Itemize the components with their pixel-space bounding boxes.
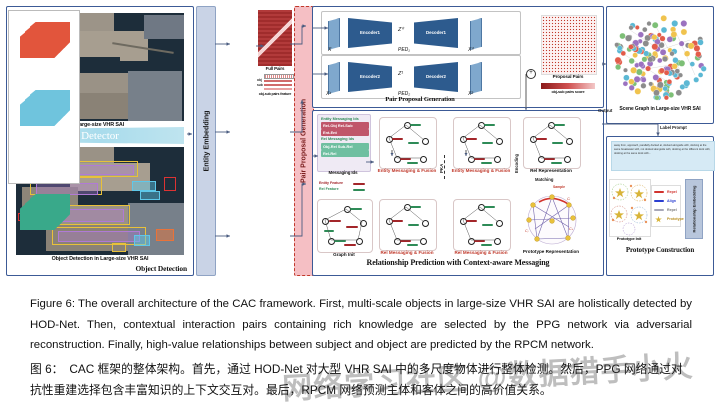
obj-sub-pairs-score-label: obj-sub pairs score xyxy=(537,91,599,95)
ped1-latent-label: Z⁰ xyxy=(398,27,404,33)
full-pairs-matrix xyxy=(258,10,292,66)
prototype-star-icon xyxy=(655,216,662,223)
entity-messaging-ids-title: Entity Messaging Ids xyxy=(321,117,359,121)
label-prompt-text: away from, approach, parallelly docked a… xyxy=(611,141,715,171)
decoder2-block: Decoder2 xyxy=(414,62,458,92)
graph-init-label: Graph Init xyxy=(313,252,375,257)
caption-chinese: 图 6： CAC 框架的整体架构。首先，通过 HOD-Net 对大型 VHR S… xyxy=(30,359,692,401)
decoder1-block: Decoder1 xyxy=(414,18,458,48)
pair-proposal-generation-panel: Encoder1 Z⁰ Decoder1 X X⁰ PED₁ Encoder2 … xyxy=(312,6,604,108)
prototype-mark-cj: Cⱼ xyxy=(525,229,528,233)
rel-representation-label: Rel Representation xyxy=(519,168,583,173)
output-label: Output xyxy=(598,108,612,113)
rpcm-panel: Entity Messaging Ids Rel-Obj Rel-Sub Ent… xyxy=(312,110,604,276)
ped1-output-label: X⁰ xyxy=(468,47,473,53)
figure-caption: Figure 6: The overall architecture of th… xyxy=(30,294,692,401)
prototype-mark-ck: Cₖ xyxy=(569,227,573,231)
scene-graph-panel: Scene Graph in Large-size VHR SAI xyxy=(606,6,714,124)
scene-graph-plot xyxy=(610,10,710,106)
ped2-latent-label: Z¹ xyxy=(398,71,403,77)
rel-fusion-card-1 xyxy=(379,199,437,251)
pairs-score-bar xyxy=(541,83,595,89)
prototype-representation-graph: Cᵢ Cⱼ Cₖ xyxy=(523,193,581,247)
encoder1-block: Encoder1 xyxy=(348,18,392,48)
ped1-box: Encoder1 Z⁰ Decoder1 X X⁰ PED₁ xyxy=(321,11,521,55)
feature-legend: Entity Feature Rel Feature xyxy=(319,181,367,193)
entity-fusion-card-2 xyxy=(453,117,511,169)
prototype-mark-ci: Cᵢ xyxy=(567,197,570,201)
rel-feature-legend-label: Rel Feature xyxy=(319,187,339,191)
sub-axis-label: sub xyxy=(257,83,263,87)
obj-axis-label: obj xyxy=(257,78,262,82)
sample-label: Sample xyxy=(553,185,565,189)
entity-messaging-id-2: Ent-Ent xyxy=(321,129,369,136)
rel-messaging-ids-title: Rel Messaging Ids xyxy=(321,137,354,141)
rel-fusion-card-2 xyxy=(453,199,511,251)
proposal-pairs-label: Proposal Pairs xyxy=(537,75,599,80)
encoder2-block: Encoder2 xyxy=(348,62,392,92)
messaging-ids-label: Messaging Ids xyxy=(313,171,373,175)
entity-fusion-label-2: Entity Messaging & Fusion xyxy=(449,168,513,173)
rel-representation-card xyxy=(523,117,581,169)
prototype-legend: Repel Align Repel Prototype xyxy=(651,185,681,227)
messaging-ids-legend: Entity Messaging Ids Rel-Obj Rel-Sub Ent… xyxy=(317,114,371,172)
full-pairs-label: Full Pairs xyxy=(256,67,294,71)
full-pairs-group: Full Pairs obj sub obj-sub pairs feature xyxy=(256,8,294,104)
entity-feature-legend-label: Entity Feature xyxy=(319,181,343,185)
rel-fusion-label-1: Rel Messaging & Fusion xyxy=(375,250,439,255)
relationship-embedding-block: Relationship Embedding xyxy=(685,179,703,239)
rel-feature-swatch xyxy=(353,189,365,191)
rel-messaging-id-2: Rel-Rel xyxy=(321,150,369,157)
entity-fusion-card-1 xyxy=(379,117,437,169)
cac-architecture-figure: Large-size VHR SAI Detector xyxy=(6,4,714,282)
prototype-representation-label: Prototype Representation xyxy=(519,249,583,254)
entity-fusion-label-1: Entity Messaging & Fusion xyxy=(375,168,439,173)
ped1-output-slab xyxy=(470,18,482,50)
prototype-init-plot xyxy=(609,179,651,237)
ped1-name-label: PED₁ xyxy=(398,47,410,53)
sum-operator-icon: + xyxy=(526,69,536,79)
prototype-construction-panel: away from, approach, parallelly docked a… xyxy=(606,136,714,276)
ppg-column-label: Pair Proposal Generation xyxy=(301,99,308,183)
ppg-column: Pair Proposal Generation xyxy=(294,6,314,276)
caption-english: Figure 6: The overall architecture of th… xyxy=(30,294,692,356)
ped2-input-slab xyxy=(328,62,340,94)
scene-graph-caption: Scene Graph in Large-size VHR SAI xyxy=(607,107,713,112)
prototype-init-label: Prototype Init xyxy=(607,237,651,241)
rpcm-title: Relationship Prediction with Context-awa… xyxy=(313,259,603,267)
ped1-input-label: X xyxy=(328,47,331,53)
figure-page: Large-size VHR SAI Detector xyxy=(0,0,720,405)
matching-label: Matching xyxy=(535,177,553,182)
proposal-pairs-matrix xyxy=(541,15,597,75)
rel-fusion-label-2: Rel Messaging & Fusion xyxy=(449,250,513,255)
pair-proposal-generation-title: Pair Proposal Generation xyxy=(321,97,519,104)
ped1-input-slab xyxy=(328,18,340,50)
object-detection-title: Object Detection xyxy=(7,265,187,272)
detection-result-caption: Object Detection in Large-size VHR SAI xyxy=(7,257,193,262)
ped2-box: Encoder2 Z¹ Decoder2 X¹ X² PED₂ xyxy=(321,55,521,99)
graph-init-card xyxy=(317,199,373,253)
entity-feature-swatch xyxy=(353,183,365,185)
pka-label: PKA xyxy=(439,164,444,173)
ped2-output-slab xyxy=(470,62,482,94)
prototype-construction-title: Prototype Construction xyxy=(607,247,713,254)
obj-sub-pairs-feature-label: obj-sub pairs feature xyxy=(256,93,294,97)
pka-divider xyxy=(444,155,445,179)
label-prompt-label: Label Prompt xyxy=(660,125,687,130)
